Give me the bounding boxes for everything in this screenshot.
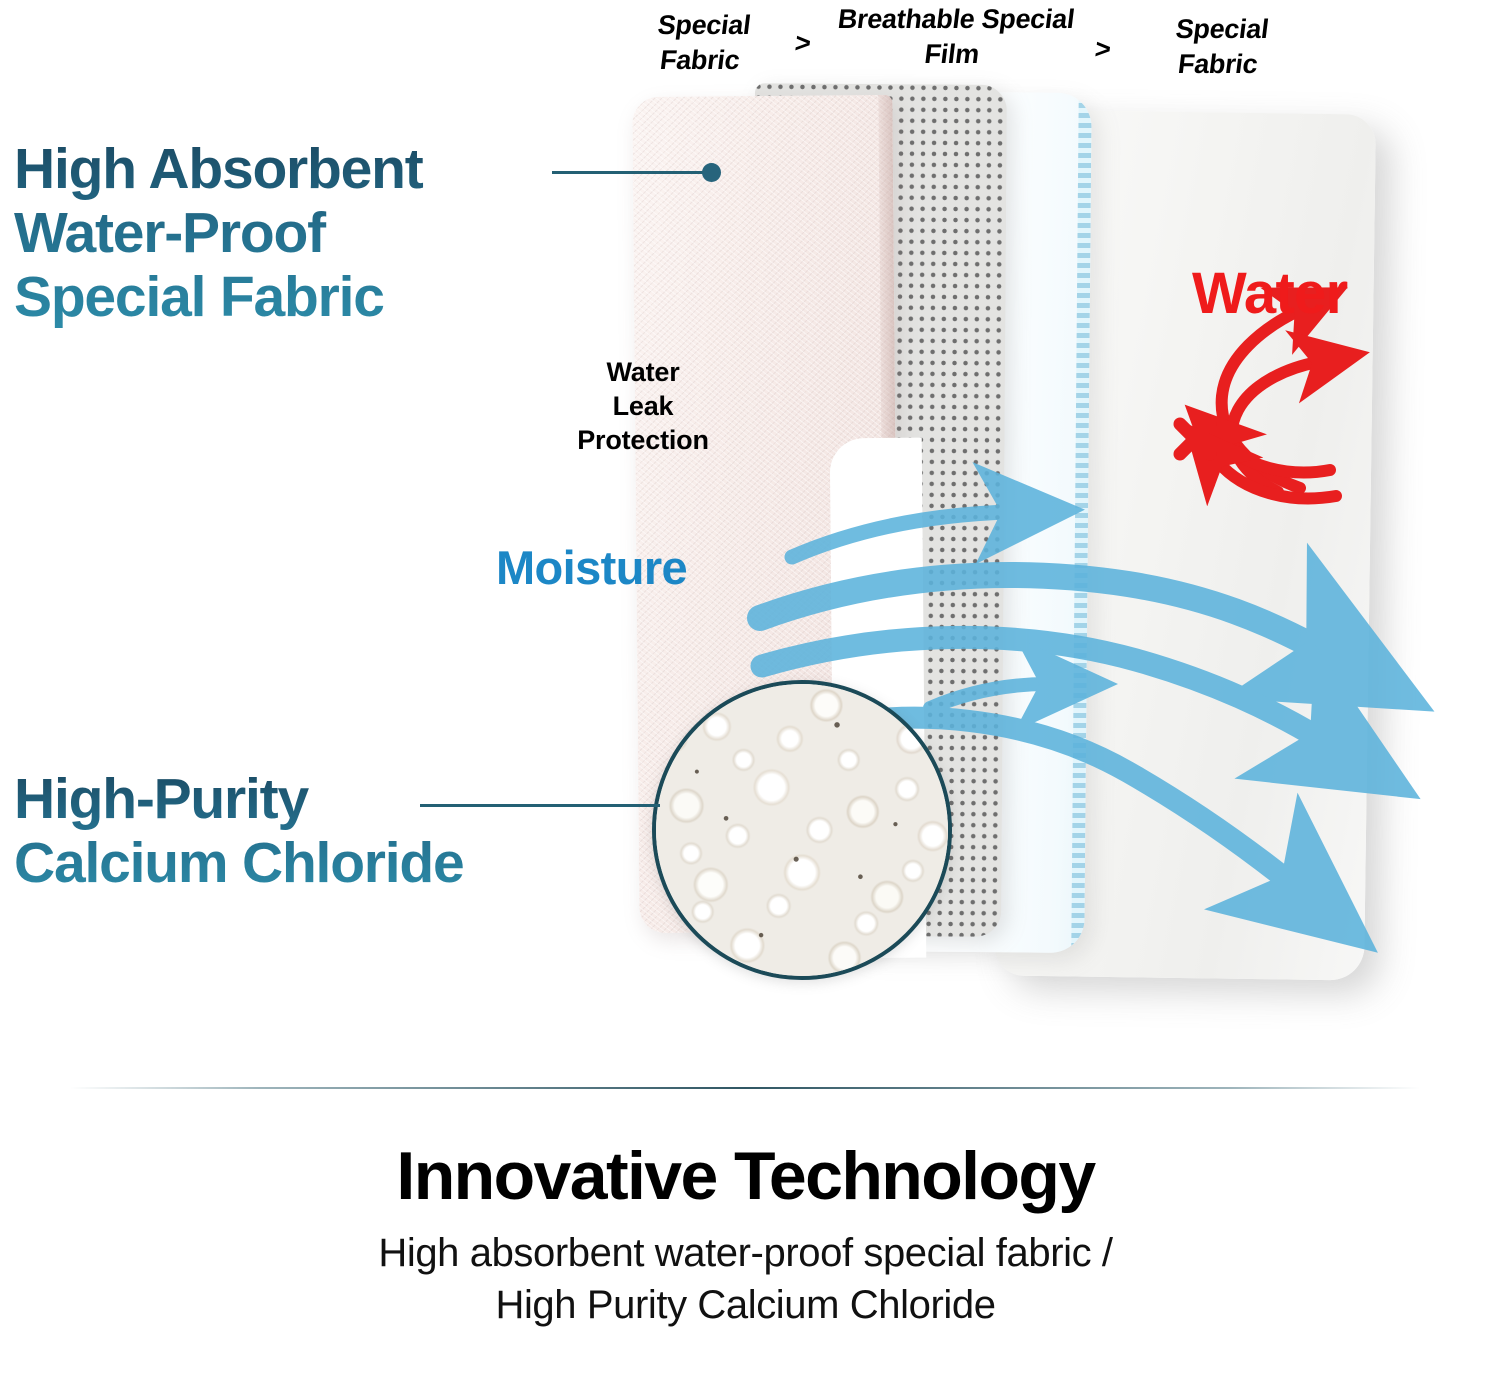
calcium-chloride-photo-inset	[652, 680, 952, 980]
layer-separator-2: >	[1093, 34, 1113, 65]
calcium-beads-specks	[656, 684, 948, 976]
footer-subtitle: High absorbent water-proof special fabri…	[0, 1227, 1491, 1331]
infographic-page: Special Fabric > Breathable Special Film…	[0, 0, 1491, 1375]
label-water-leak-protection: Water Leak Protection	[548, 355, 738, 457]
layer-label-special-fabric-outer: Special Fabric	[1136, 12, 1304, 81]
footer-title: Innovative Technology	[0, 1140, 1491, 1213]
heading-high-purity-calcium-chloride: High-Purity Calcium Chloride	[14, 768, 594, 896]
heading-high-absorbent-fabric: High Absorbent Water-Proof Special Fabri…	[14, 138, 554, 329]
section-divider	[70, 1087, 1420, 1089]
label-water: Water	[1192, 260, 1348, 327]
leader-line-absorbent	[552, 171, 712, 174]
layer-separator-1: >	[793, 28, 813, 59]
footer-section: Innovative Technology High absorbent wat…	[0, 1140, 1491, 1331]
leader-dot-icon	[702, 163, 721, 182]
layer-label-special-fabric-inner: Special Fabric	[618, 8, 786, 77]
label-moisture: Moisture	[496, 540, 687, 595]
layer-label-breathable-film: Breathable Special Film	[820, 2, 1088, 71]
